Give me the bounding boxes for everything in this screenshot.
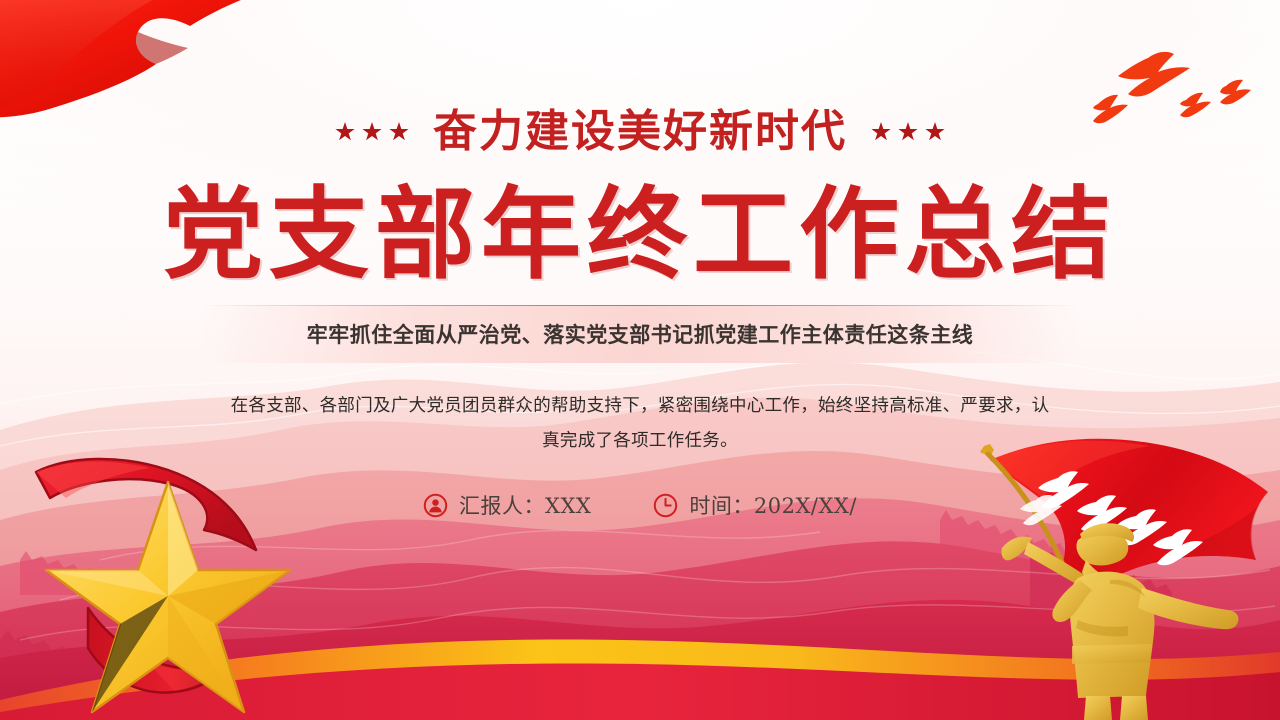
star-icon bbox=[898, 122, 918, 142]
date-text: 时间：202X/XX/ bbox=[689, 490, 857, 520]
stars-left bbox=[335, 122, 409, 142]
star-icon bbox=[362, 122, 382, 142]
body-paragraph: 在各支部、各部门及广大党员团员群众的帮助支持下，紧密围绕中心工作，始终坚持高标准… bbox=[226, 388, 1054, 458]
eyebrow-row: 奋力建设美好新时代 bbox=[0, 110, 1280, 154]
person-circle-icon bbox=[423, 493, 448, 518]
star-icon bbox=[871, 122, 891, 142]
star-icon bbox=[335, 122, 355, 142]
date-item: 时间：202X/XX/ bbox=[653, 490, 857, 520]
stars-right bbox=[871, 122, 945, 142]
subtitle-text: 牢牢抓住全面从严治党、落实党支部书记抓党建工作主体责任这条主线 bbox=[307, 319, 974, 349]
clock-icon bbox=[653, 493, 678, 518]
star-icon bbox=[925, 122, 945, 142]
eyebrow-text: 奋力建设美好新时代 bbox=[433, 110, 847, 154]
star-icon bbox=[389, 122, 409, 142]
presentation-slide: 奋力建设美好新时代 党支部年终工作总结 牢牢抓住全面从严治党、落实党支部书记抓党… bbox=[0, 0, 1280, 720]
page-title: 党支部年终工作总结 bbox=[0, 182, 1280, 287]
presenter-item: 汇报人：XXX bbox=[423, 490, 591, 520]
subtitle-band: 牢牢抓住全面从严治党、落实党支部书记抓党建工作主体责任这条主线 bbox=[200, 305, 1080, 363]
presenter-text: 汇报人：XXX bbox=[459, 490, 591, 520]
meta-row: 汇报人：XXX 时间：202X/XX/ bbox=[0, 490, 1280, 520]
